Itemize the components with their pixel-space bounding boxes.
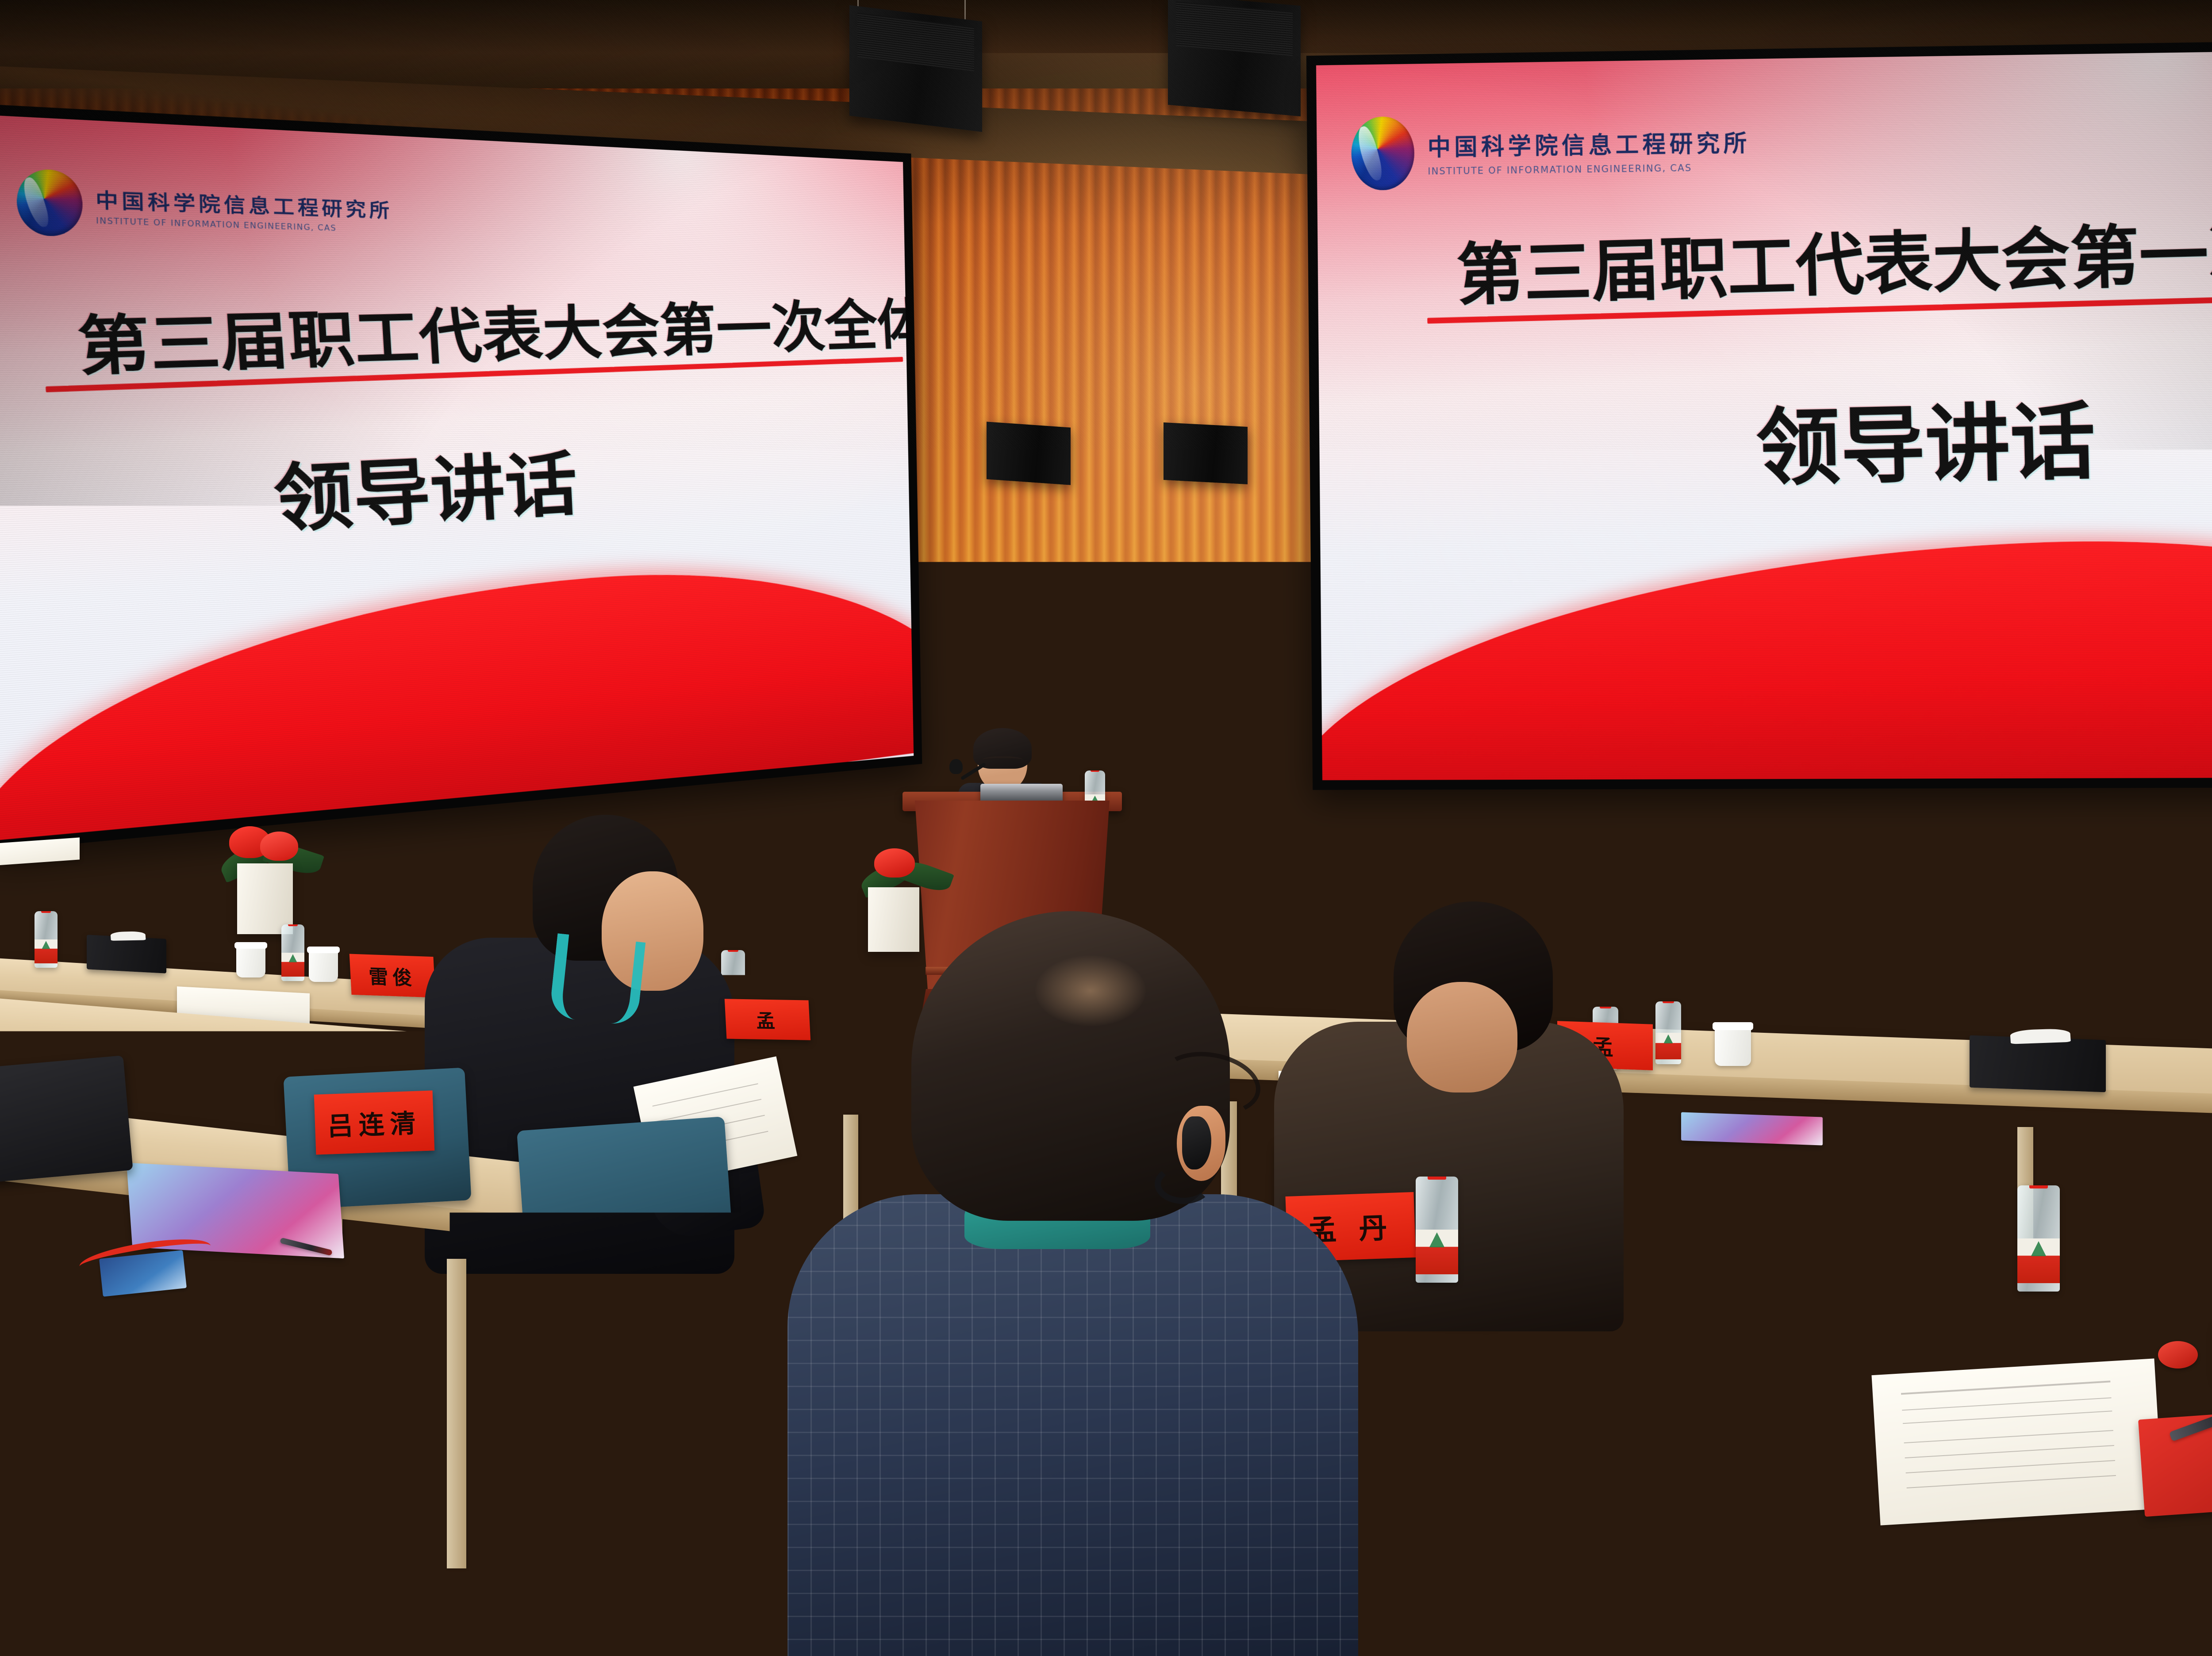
red-flower — [260, 832, 298, 861]
paper-line — [1902, 1397, 2111, 1411]
water-bottle — [1655, 1001, 1681, 1064]
wall-outlet — [2132, 960, 2147, 979]
bottle-cap — [41, 911, 51, 913]
conference-hall-photo: 中国科学院信息工程研究所 INSTITUTE OF INFORMATION EN… — [0, 0, 2212, 1656]
left-screen-surface: 中国科学院信息工程研究所 INSTITUTE OF INFORMATION EN… — [0, 115, 914, 840]
slide-wave-secondary — [1316, 591, 2171, 780]
paper-line — [1903, 1411, 2112, 1424]
attendee-plaid-hearing-aid-hook — [1155, 1164, 1212, 1204]
wall-speaker — [987, 422, 1071, 485]
water-bottle — [281, 924, 304, 981]
chair-back — [0, 1055, 133, 1183]
red-flower — [1813, 907, 1863, 943]
speaker-grille — [857, 13, 974, 71]
bottle-label — [2017, 1238, 2060, 1283]
name-placard: 雷俊 — [349, 954, 436, 998]
logo-text-block: 中国科学院信息工程研究所 INSTITUTE OF INFORMATION EN… — [1427, 124, 1751, 176]
bottle-cap — [288, 924, 298, 926]
bottle-label — [281, 953, 304, 977]
table-leg — [447, 1259, 466, 1568]
paper-line — [1901, 1381, 2110, 1395]
flower-planter — [237, 863, 293, 934]
institute-oval-logo-icon — [1351, 116, 1415, 191]
bottle-cap — [1663, 1001, 1674, 1003]
chair-back — [517, 1116, 735, 1290]
attendee-suit-lanyard — [549, 933, 646, 1026]
attendee-plaid — [787, 911, 1358, 1656]
attendee-plaid-bald-spot — [1035, 955, 1146, 1026]
slide-subtitle: 领导讲话 — [1755, 374, 2097, 502]
slide-subtitle: 领导讲话 — [271, 428, 579, 547]
cup-lid — [307, 947, 340, 953]
speaker-grille — [1176, 1, 1293, 56]
attendee-plaid-torso — [787, 1194, 1358, 1656]
tissue-box — [87, 935, 166, 973]
paper-line — [1904, 1430, 2113, 1444]
red-flower — [1856, 912, 1902, 947]
notebook — [1681, 1112, 1823, 1145]
right-screen-surface: 中国科学院信息工程研究所 INSTITUTE OF INFORMATION EN… — [1316, 48, 2212, 780]
slide-logo-block: 中国科学院信息工程研究所 INSTITUTE OF INFORMATION EN… — [1351, 111, 1751, 191]
paper-cup — [236, 945, 265, 977]
marker-cap — [2158, 1341, 2198, 1368]
water-bottle — [2017, 1185, 2060, 1292]
bottle-label — [1655, 1033, 1681, 1059]
org-name-cn: 中国科学院信息工程研究所 — [95, 184, 393, 222]
attendee-leather-head — [1407, 982, 1517, 1092]
bottle-label — [35, 939, 58, 963]
name-placard: 吕连清 — [314, 1090, 435, 1154]
line-array-speaker — [1168, 0, 1301, 116]
wall-outlet — [156, 902, 171, 922]
red-flower — [874, 848, 915, 878]
attendee-foreground-right-torso — [1717, 1460, 2212, 1656]
cup-lid — [1713, 1022, 1753, 1030]
gooseneck-microphone-head-icon — [949, 759, 963, 774]
wall-speaker — [1164, 422, 1248, 484]
bottle-cap — [1428, 1177, 1446, 1180]
logo-text-block: 中国科学院信息工程研究所 INSTITUTE OF INFORMATION EN… — [95, 184, 393, 234]
paper-cup — [309, 949, 338, 982]
water-bottle — [35, 911, 58, 968]
org-name-cn: 中国科学院信息工程研究所 — [1427, 124, 1751, 162]
left-projection-screen: 中国科学院信息工程研究所 INSTITUTE OF INFORMATION EN… — [0, 103, 922, 852]
paper-cup — [1715, 1025, 1751, 1066]
tissue-box — [1970, 1035, 2106, 1092]
line-array-speaker — [849, 5, 982, 132]
right-projection-screen: 中国科学院信息工程研究所 INSTITUTE OF INFORMATION EN… — [1306, 38, 2212, 790]
bottle-cap — [1091, 770, 1099, 772]
paper-line — [1905, 1445, 2114, 1458]
cup-lid — [234, 942, 267, 949]
attendee-foreground-right — [1717, 1460, 2212, 1656]
org-name-en: INSTITUTE OF INFORMATION ENGINEERING, CA… — [1428, 162, 1751, 177]
presenter-glasses — [982, 756, 1023, 765]
flower-planter — [1827, 951, 1896, 1039]
institute-oval-logo-icon — [16, 168, 83, 237]
bottle-cap — [2029, 1185, 2048, 1188]
bottle-label — [1416, 1230, 1458, 1274]
water-bottle — [1416, 1177, 1458, 1283]
